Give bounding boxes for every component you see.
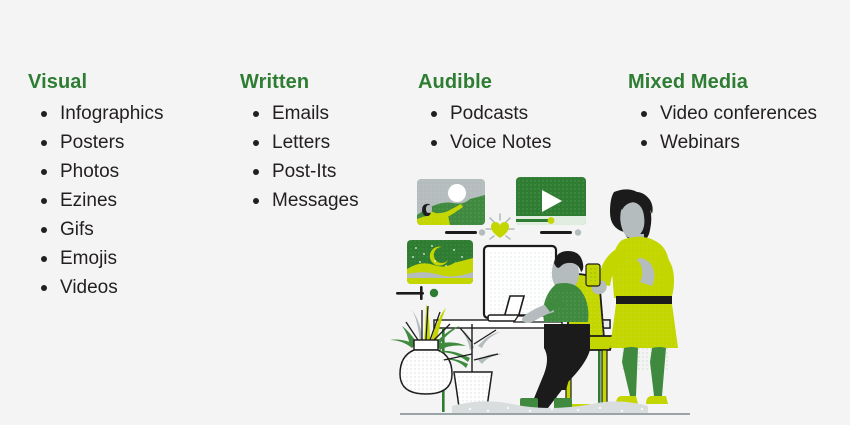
bullet-icon: [41, 256, 47, 262]
column-list-written: Emails Letters Post-Its Messages: [240, 99, 410, 215]
bullet-icon: [41, 169, 47, 175]
list-item-label: Emojis: [60, 248, 117, 269]
bullet-icon: [641, 111, 647, 117]
bullet-icon: [641, 140, 647, 146]
list-item: Voice Notes: [418, 128, 618, 157]
bullet-icon: [253, 198, 259, 204]
video-card-controls: [540, 229, 581, 235]
list-item-label: Infographics: [60, 103, 164, 124]
list-item-label: Video conferences: [660, 103, 817, 124]
bullet-icon: [41, 227, 47, 233]
heart-reaction-icon: [486, 214, 514, 239]
column-mixed-media: Mixed Media Video conferences Webinars: [628, 70, 850, 157]
column-title-visual: Visual: [28, 70, 228, 94]
list-item-label: Voice Notes: [450, 132, 551, 153]
list-item: Emojis: [28, 244, 228, 273]
bullet-icon: [253, 169, 259, 175]
list-item: Emails: [240, 99, 410, 128]
list-item: Messages: [240, 186, 410, 215]
list-item-label: Webinars: [660, 132, 740, 153]
list-item: Posters: [28, 128, 228, 157]
list-item-label: Emails: [272, 103, 329, 124]
photo-card-day-controls: [445, 229, 485, 235]
column-title-written: Written: [240, 70, 410, 94]
column-list-audible: Podcasts Voice Notes: [418, 99, 618, 157]
shoe: [646, 396, 668, 404]
night-card-controls: [396, 286, 438, 300]
list-item: Gifs: [28, 215, 228, 244]
list-item-label: Post-Its: [272, 161, 336, 182]
list-item: Letters: [240, 128, 410, 157]
bullet-icon: [41, 198, 47, 204]
list-item-label: Podcasts: [450, 103, 528, 124]
video-card: [516, 177, 586, 225]
bullet-icon: [41, 111, 47, 117]
bullet-icon: [431, 111, 437, 117]
list-item: Webinars: [628, 128, 850, 157]
column-audible: Audible Podcasts Voice Notes: [418, 70, 618, 157]
column-visual: Visual Infographics Posters Photos Ezine…: [28, 70, 228, 302]
list-item-label: Gifs: [60, 219, 94, 240]
list-item: Podcasts: [418, 99, 618, 128]
column-title-audible: Audible: [418, 70, 618, 94]
list-item-label: Posters: [60, 132, 124, 153]
bullet-icon: [253, 140, 259, 146]
bullet-icon: [41, 285, 47, 291]
column-title-mixed-media: Mixed Media: [628, 70, 850, 94]
photo-card-day-scene: [417, 179, 485, 225]
column-written: Written Emails Letters Post-Its Messages: [240, 70, 410, 215]
bullet-icon: [253, 111, 259, 117]
column-list-mixed-media: Video conferences Webinars: [628, 99, 850, 157]
list-item-label: Videos: [60, 277, 118, 298]
people-consuming-media-illustration: [390, 168, 710, 418]
belt: [616, 296, 672, 304]
list-item-label: Ezines: [60, 190, 117, 211]
slide-canvas: Visual Infographics Posters Photos Ezine…: [0, 0, 850, 425]
bullet-icon: [431, 140, 437, 146]
list-item-label: Messages: [272, 190, 359, 211]
list-item: Photos: [28, 157, 228, 186]
list-item: Infographics: [28, 99, 228, 128]
list-item: Video conferences: [628, 99, 850, 128]
photo-card-night-scene: [407, 240, 473, 284]
list-item: Post-Its: [240, 157, 410, 186]
bullet-icon: [41, 140, 47, 146]
list-item-label: Letters: [272, 132, 330, 153]
list-item: Videos: [28, 273, 228, 302]
list-item-label: Photos: [60, 161, 119, 182]
column-list-visual: Infographics Posters Photos Ezines Gifs …: [28, 99, 228, 302]
list-item: Ezines: [28, 186, 228, 215]
